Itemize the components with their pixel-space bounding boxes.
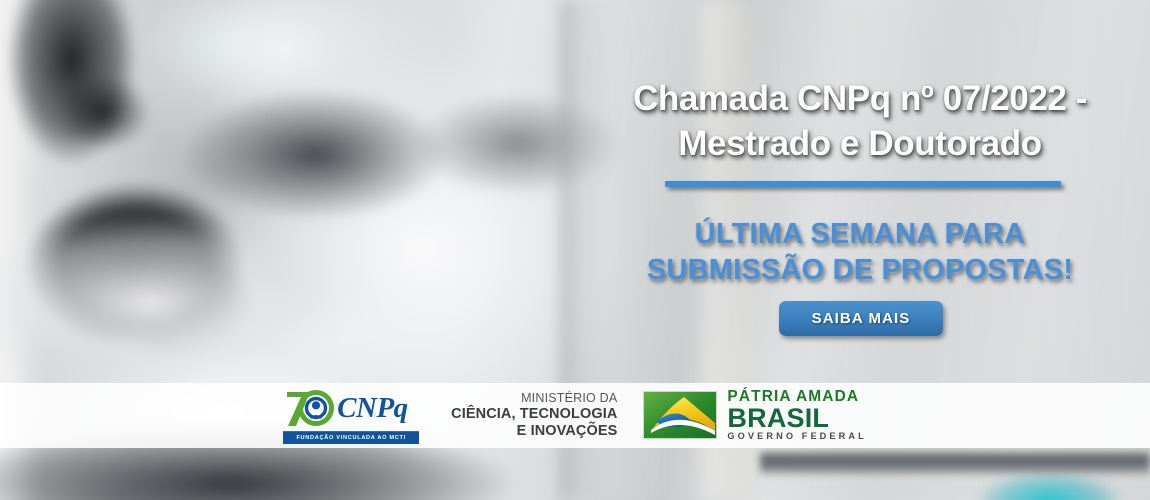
headline-line-2: Mestrado e Doutorado (600, 121, 1120, 166)
logo-group: CNPq FUNDAÇÃO VINCULADA AO MCTI MINISTÉR… (283, 387, 867, 445)
logo-footer-bar: CNPq FUNDAÇÃO VINCULADA AO MCTI MINISTÉR… (0, 383, 1150, 448)
ministry-logo[interactable]: MINISTÉRIO DA CIÊNCIA, TECNOLOGIA E INOV… (441, 391, 621, 440)
brasil-line-3: GOVERNO FEDERAL (727, 432, 866, 441)
brasil-flag-icon (643, 391, 717, 439)
banner-subtitle: ÚLTIMA SEMANA PARA SUBMISSÃO DE PROPOSTA… (600, 216, 1120, 288)
cnpq-wordmark: CNPq (337, 387, 408, 429)
brasil-line-2: BRASIL (727, 405, 866, 433)
brasil-flag-svg (644, 392, 717, 439)
cnpq-70-svg (283, 387, 339, 429)
cnpq-70-anniversary-icon (283, 387, 339, 429)
background-lab-rod (760, 452, 1150, 474)
brasil-wordmark: PÁTRIA AMADA BRASIL GOVERNO FEDERAL (727, 389, 866, 441)
cnpq-ribbon-text: FUNDAÇÃO VINCULADA AO MCTI (283, 431, 419, 444)
divider (665, 181, 1061, 190)
promo-banner: Chamada CNPq nº 07/2022 - Mestrado e Dou… (0, 0, 1150, 500)
ministry-line-1: MINISTÉRIO DA (451, 391, 617, 406)
saiba-mais-button[interactable]: SAIBA MAIS (779, 301, 943, 336)
banner-headline: Chamada CNPq nº 07/2022 - Mestrado e Dou… (600, 76, 1120, 166)
headline-line-1: Chamada CNPq nº 07/2022 - (633, 79, 1087, 118)
ministry-line-3: E INOVAÇÕES (451, 423, 617, 440)
brasil-government-logo[interactable]: PÁTRIA AMADA BRASIL GOVERNO FEDERAL (643, 389, 866, 441)
cnpq-logo-mark: CNPq (283, 387, 419, 429)
subtitle-line-1: ÚLTIMA SEMANA PARA (695, 218, 1026, 250)
subtitle-line-2: SUBMISSÃO DE PROPOSTAS! (600, 252, 1120, 288)
cnpq-logo[interactable]: CNPq FUNDAÇÃO VINCULADA AO MCTI (283, 387, 419, 445)
ministry-line-2: CIÊNCIA, TECNOLOGIA (451, 406, 617, 423)
blue-divider-rule (665, 181, 1061, 187)
